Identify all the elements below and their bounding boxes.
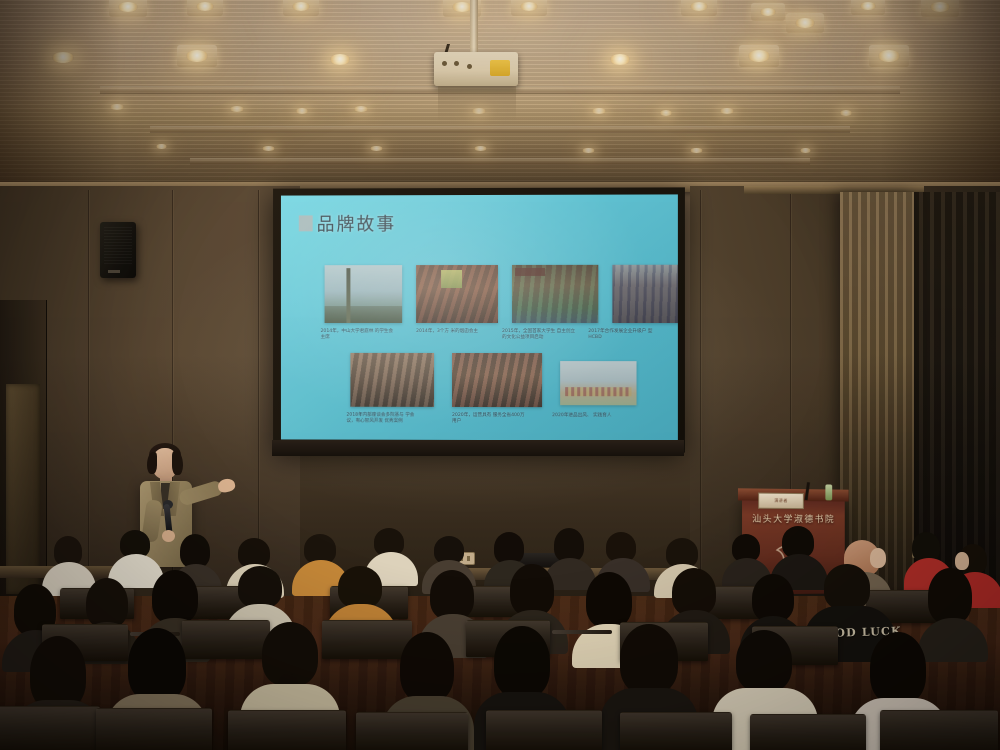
slide-photo-row-1 [325,265,678,323]
ceiling-light-2 [196,2,214,11]
ceiling [0,0,1000,190]
projection-screen: 品牌故事 2014年，中山大学君庭林 的学生会主席 2014年，3个方 米的烟囱… [281,194,678,440]
hair [238,566,282,608]
ceiling-light-13 [330,54,350,65]
ceiling-projector [434,52,518,86]
ceiling-right-shadow [880,0,1000,190]
ceiling-light-19 [296,108,308,114]
hair [928,568,972,624]
projector-mount-pole [470,0,478,54]
seat-front-6[interactable] [620,712,732,750]
hair [870,632,926,704]
lectern-nameplate: 演讲者 [758,493,804,510]
seat-mid-2[interactable] [182,620,270,659]
slide-title-accent-box [299,215,313,231]
ceiling-light-14 [610,54,630,65]
photo-scene: 品牌故事 2014年，中山大学君庭林 的学生会主席 2014年，3个方 米的烟囱… [0,0,1000,750]
ceiling-light-15 [748,50,770,62]
hair [128,628,186,702]
face [955,552,969,570]
slide-photo-row-2 [350,353,636,407]
hair [752,574,794,622]
slide-caption-3: 2015年，全国首家大学生 自主创立的文化公益项目启动 [502,329,578,342]
hair [338,566,382,608]
ceiling-coffer-band-2 [150,126,850,133]
seat-front-4[interactable] [356,712,468,750]
lectern-nameplate-text: 演讲者 [759,494,803,507]
presenter-hair-right [172,451,183,475]
seat-front-5[interactable] [486,710,602,750]
audience: GOOD LUCK [0,520,1000,750]
ceiling-light-22 [592,108,606,114]
seat-front-3[interactable] [228,710,346,750]
hair [30,636,86,710]
hair [494,626,550,698]
seat-front-1[interactable] [0,706,100,750]
hair [430,570,474,620]
slide-photo-6 [452,353,542,407]
presenter-right-hand [217,477,236,493]
slide-photo-5 [350,353,434,407]
slide-caption-4: 2017年合作发展企业升级户 型HCBD [588,329,665,342]
ceiling-light-1 [118,2,138,12]
hair [620,624,678,694]
slide-photo-7 [560,361,636,405]
screen-roller-housing [272,440,684,456]
projector-indicator-2 [454,61,459,66]
hair [180,534,210,568]
hair [86,578,128,628]
ceiling-coffer-band-3 [190,158,810,165]
ceiling-light-26 [156,144,167,149]
slide-title: 品牌故事 [317,210,397,236]
projection-screen-frame: 品牌故事 2014年，中山大学君庭林 的学生会主席 2014年，3个方 米的烟囱… [273,187,685,452]
ceiling-light-18 [230,106,244,112]
projector-lens-panel [490,60,510,76]
seat-front-8[interactable] [880,710,998,750]
slide-caption-1: 2014年，中山大学君庭林 的学生会主席 [321,329,397,342]
ceiling-light-3 [292,2,310,11]
hair [152,570,198,624]
ceiling-light-6 [690,2,708,11]
ceiling-light-20 [354,106,368,112]
torso [918,618,988,662]
slide-caption-5: 2018年内部座谈会多院基与 学会议，有心智风开发 优秀案例 [346,413,422,426]
ceiling-light-31 [690,148,703,153]
ceiling-light-29 [474,146,487,151]
ceiling-light-9 [860,2,876,10]
hair [672,568,716,616]
ceiling-light-32 [800,148,811,153]
ceiling-light-24 [720,108,734,114]
ceiling-light-28 [370,146,383,151]
water-bottle [825,484,832,500]
slide-photo-4 [612,265,677,323]
ceiling-left-shadow [0,0,120,190]
slide-photo-1 [325,265,403,323]
seat-mid-3[interactable] [322,620,412,659]
hair [824,564,870,610]
slide-photo-2 [416,265,498,323]
slide-photo-3 [512,265,598,323]
face [870,548,886,568]
ceiling-light-30 [582,148,595,153]
projector-shadow [438,86,516,122]
ceiling-light-10 [760,8,776,16]
presenter-hair-left [147,452,157,474]
seat-arm-2 [552,630,612,634]
presentation-slide: 品牌故事 2014年，中山大学君庭林 的学生会主席 2014年，3个方 米的烟囱… [281,194,678,440]
seat-front-7[interactable] [750,714,866,750]
seat-front-2[interactable] [96,708,212,750]
hair [510,564,554,616]
ceiling-light-27 [262,146,275,151]
ceiling-light-23 [660,110,672,116]
slide-caption-2: 2014年，3个方 米的烟囱会主 [416,329,492,335]
ceiling-light-7 [795,18,815,28]
ceiling-light-4 [452,2,472,12]
slide-caption-6: 2020年，运营具有 服务全省400万用户 [452,413,528,426]
projector-indicator-1 [442,61,447,66]
ceiling-light-12 [186,50,208,62]
hair [400,632,454,702]
hair [554,528,584,562]
ceiling-light-5 [520,2,538,11]
projector-indicator-3 [467,64,472,69]
ceiling-light-25 [840,110,852,116]
hair [736,630,792,692]
slide-caption-7: 2020年进品出风、 实践育人 [552,413,628,420]
